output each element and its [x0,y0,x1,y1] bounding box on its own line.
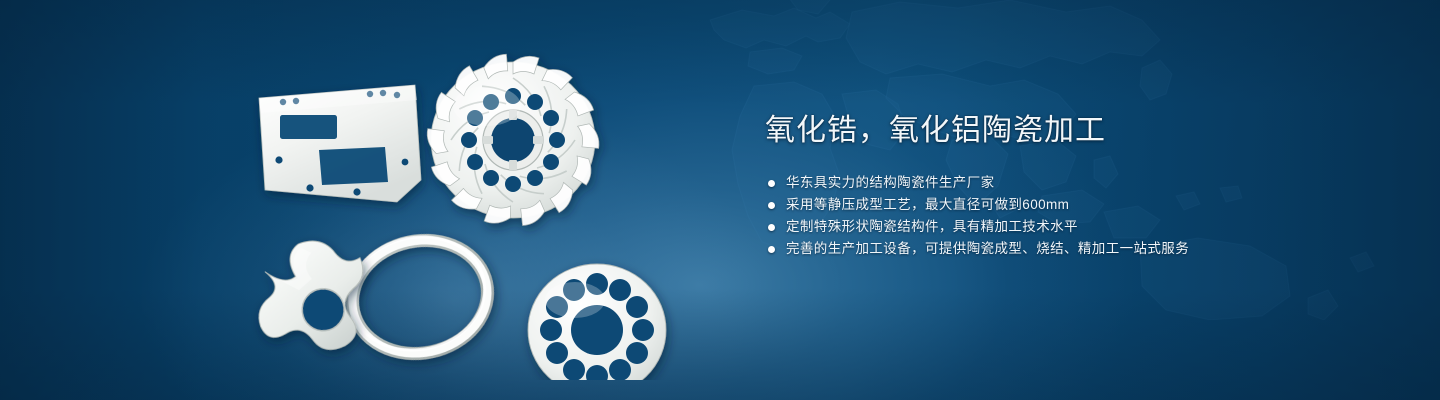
list-item: 华东具实力的结构陶瓷件生产厂家 [768,172,1385,194]
banner-copy: 氧化锆，氧化铝陶瓷加工 华东具实力的结构陶瓷件生产厂家 采用等静压成型工艺，最大… [765,112,1385,260]
bullet-dot-icon [768,246,775,253]
ceramic-perforated-disc [528,264,666,380]
list-item-label: 完善的生产加工设备，可提供陶瓷成型、烧结、精加工一站式服务 [786,238,1189,260]
list-item: 完善的生产加工设备，可提供陶瓷成型、烧结、精加工一站式服务 [768,238,1385,260]
ceramic-products-image [225,40,705,380]
list-item-label: 定制特殊形状陶瓷结构件，具有精加工技术水平 [786,216,1078,238]
bullet-dot-icon [768,224,775,231]
list-item: 定制特殊形状陶瓷结构件，具有精加工技术水平 [768,216,1385,238]
ceramic-ring-part [339,224,498,366]
list-item-label: 华东具实力的结构陶瓷件生产厂家 [786,172,995,194]
list-item-label: 采用等静压成型工艺，最大直径可做到600mm [786,194,1069,216]
ceramic-processing-banner: 氧化锆，氧化铝陶瓷加工 华东具实力的结构陶瓷件生产厂家 采用等静压成型工艺，最大… [0,0,1440,400]
bullet-dot-icon [768,180,775,187]
bullet-dot-icon [768,202,775,209]
ceramic-plate-part [259,85,421,202]
list-item: 采用等静压成型工艺，最大直径可做到600mm [768,194,1385,216]
ceramic-impeller-disc [426,53,600,228]
feature-list: 华东具实力的结构陶瓷件生产厂家 采用等静压成型工艺，最大直径可做到600mm 定… [768,172,1385,260]
page-title: 氧化锆，氧化铝陶瓷加工 [765,112,1385,150]
